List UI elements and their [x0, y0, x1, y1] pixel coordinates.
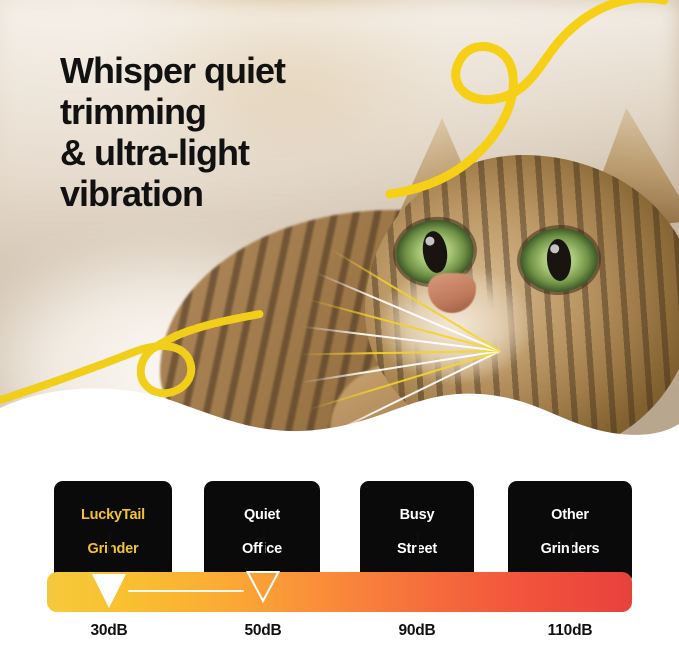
headline-line-1: Whisper quiet [60, 50, 380, 91]
noise-scale-chart: LuckyTail Grinder Quiet Office Busy Stre… [0, 470, 679, 646]
pill-line-1: Busy [370, 507, 464, 524]
tick-90db: 90dB [398, 622, 435, 640]
headline-line-4: vibration [60, 173, 380, 214]
pill-line-1: Other [518, 507, 622, 524]
wave-divider [0, 380, 679, 470]
promo-banner: Whisper quiet trimming & ultra-light vib… [0, 0, 679, 646]
pill-luckytail-grinder[interactable]: LuckyTail Grinder [54, 481, 172, 585]
pointer-stem-quiet-office [263, 533, 265, 555]
decibel-gradient-bar [47, 572, 632, 612]
tick-30db: 30dB [90, 622, 127, 640]
headline-line-2: trimming [60, 91, 380, 132]
pointer-stem-other-grinders [570, 533, 572, 555]
tick-110db: 110dB [548, 622, 593, 640]
headline-line-3: & ultra-light [60, 132, 380, 173]
tick-50db: 50dB [244, 622, 281, 640]
pill-line-2: Grinder [64, 541, 162, 558]
headline: Whisper quiet trimming & ultra-light vib… [60, 50, 380, 214]
chart-tick-labels: 30dB 50dB 90dB 110dB [0, 622, 679, 646]
pill-line-2: Office [214, 541, 310, 558]
chart-label-pills: LuckyTail Grinder Quiet Office Busy Stre… [0, 481, 679, 533]
marker-connector-line [128, 590, 244, 592]
pill-line-1: Quiet [214, 507, 310, 524]
pointer-stem-luckytail [109, 533, 111, 555]
pointer-stem-busy-street [417, 533, 419, 555]
pill-line-1: LuckyTail [64, 507, 162, 524]
marker-quiet-office-50db [246, 570, 280, 604]
